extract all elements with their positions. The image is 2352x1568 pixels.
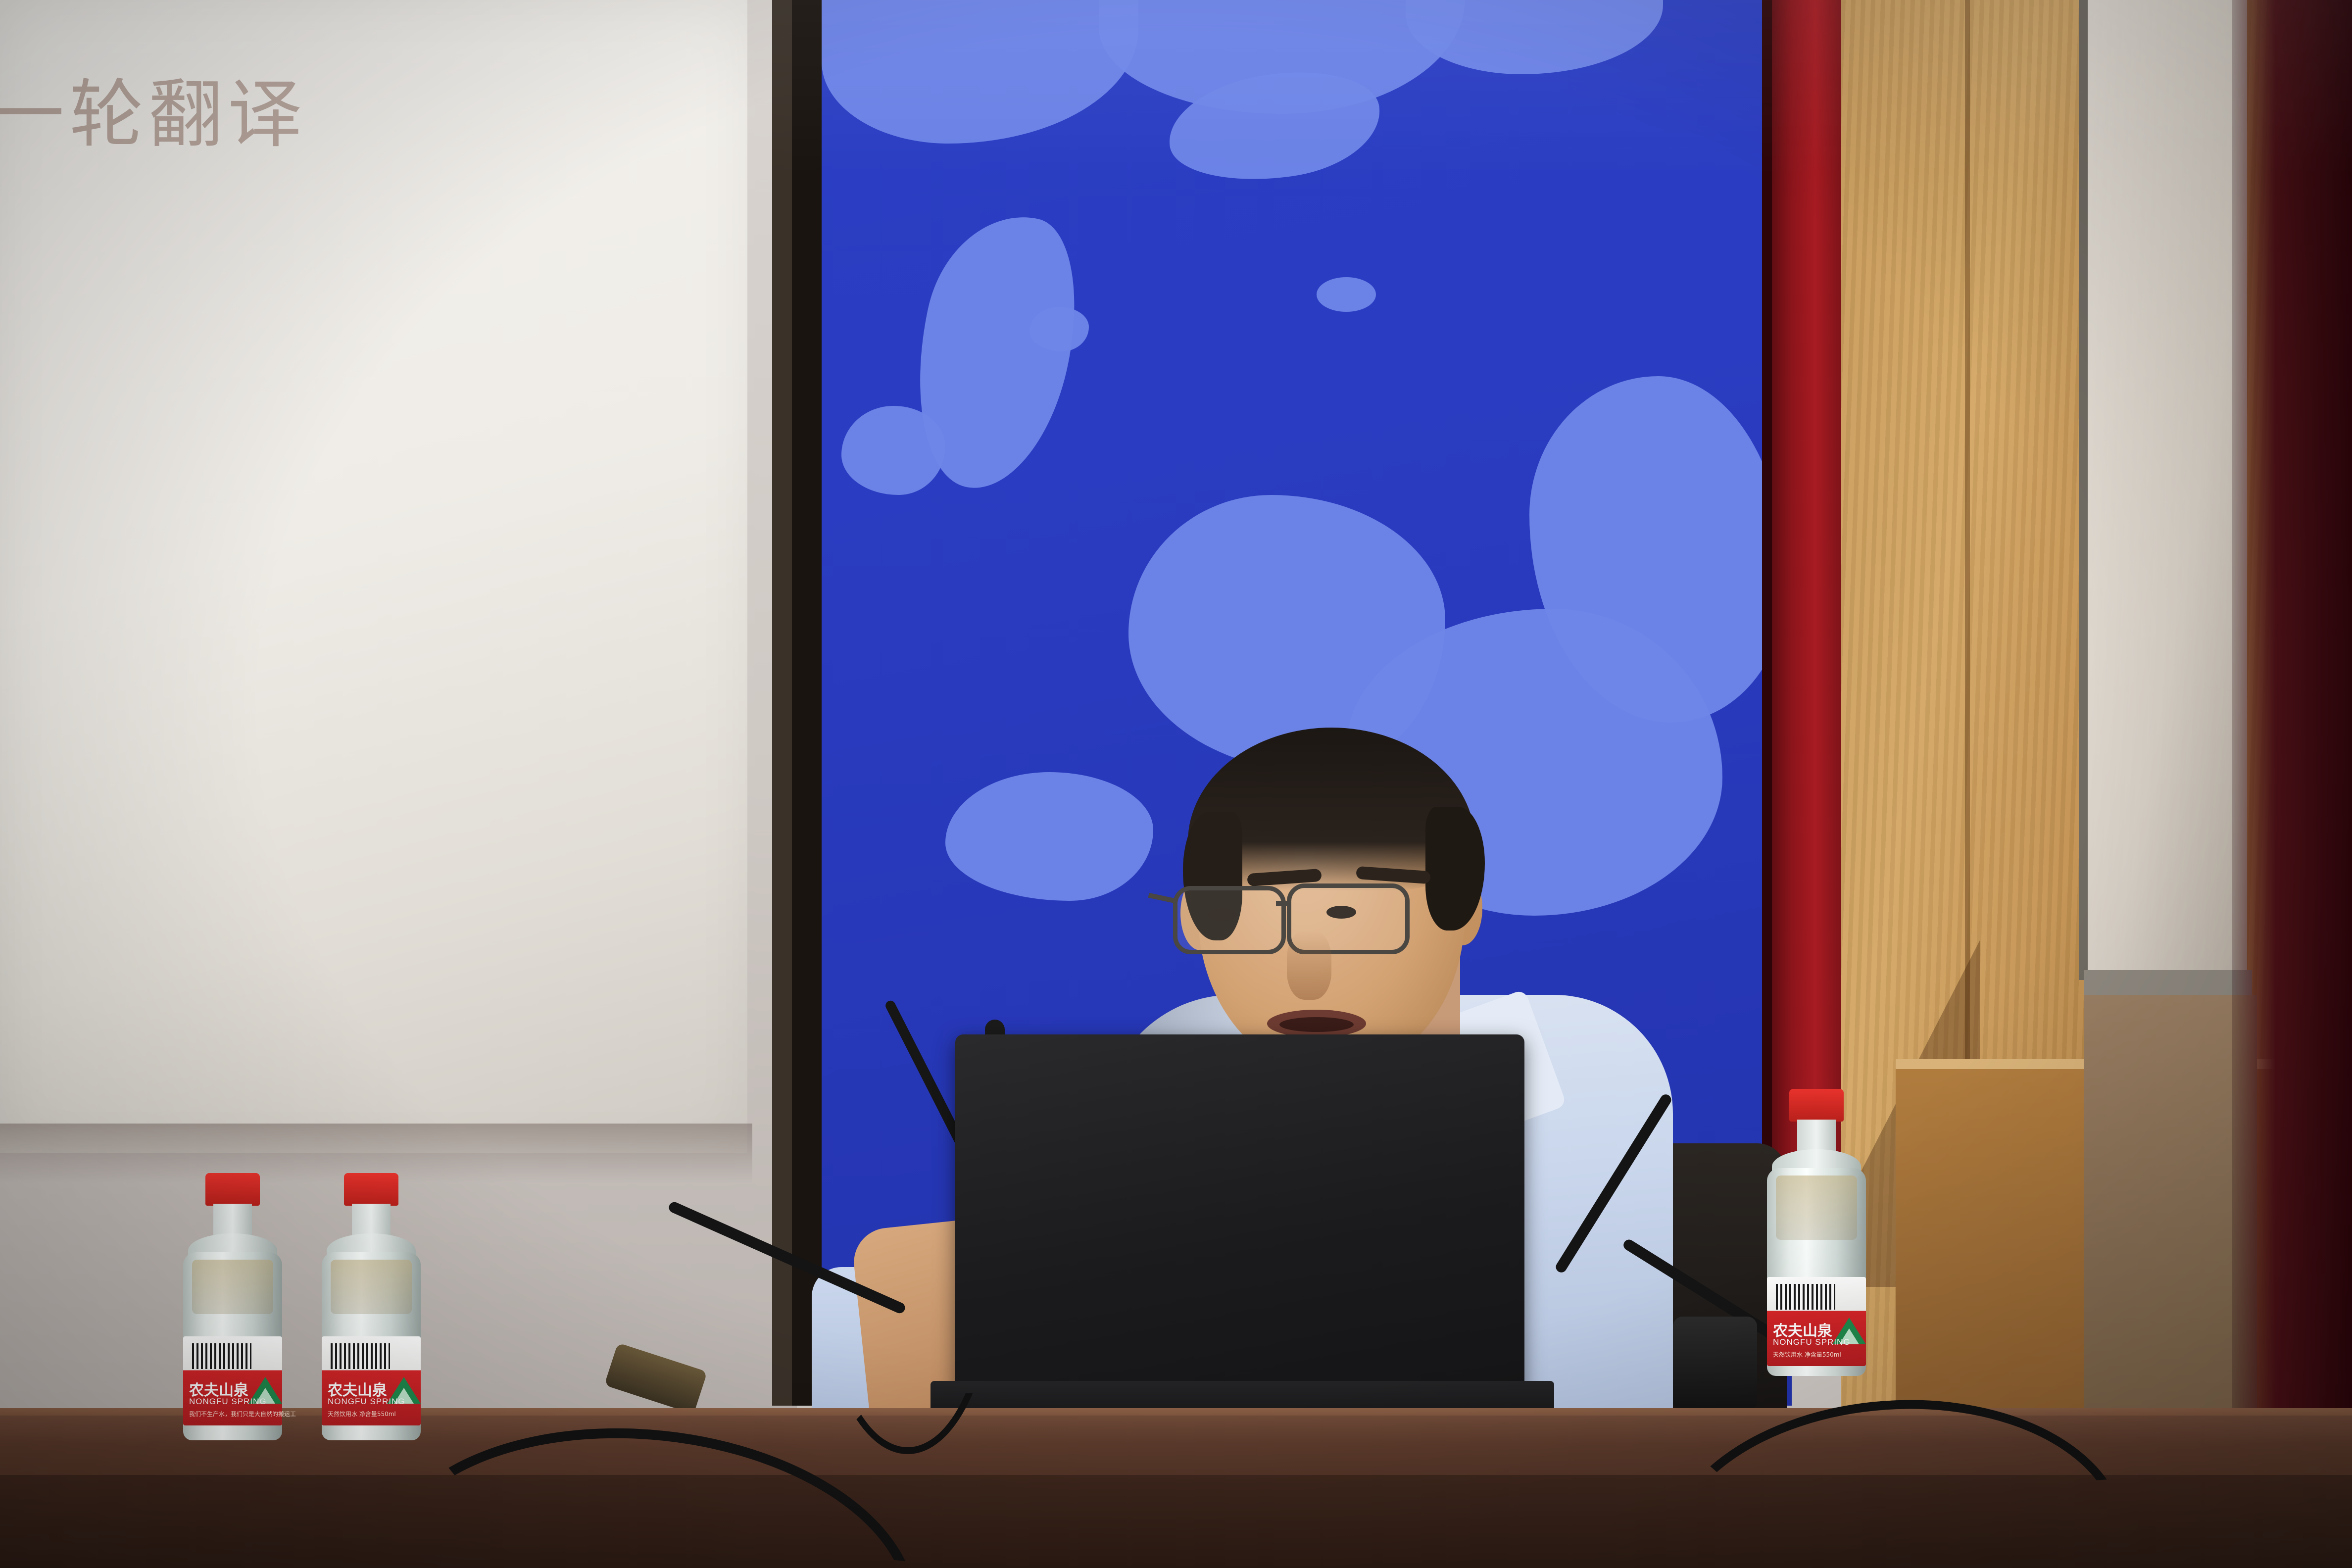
bottle-tagline: 天然饮用水 净含量550ml	[1773, 1350, 1841, 1359]
right-wall-panel	[2084, 0, 2247, 980]
photo-scene: 一轮翻译	[0, 0, 2352, 1568]
bottle-cap	[205, 1173, 260, 1206]
mouth-interior	[1279, 1017, 1354, 1032]
cloud-shape	[1406, 0, 1663, 74]
projection-screen: 一轮翻译	[0, 0, 747, 1153]
eyeglasses-bridge	[1276, 901, 1290, 906]
cloud-shape	[1029, 307, 1089, 351]
bottle-brand-en: NONGFU SPRING	[328, 1397, 405, 1407]
cloud-shape	[1317, 277, 1376, 312]
bottle-barcode	[331, 1343, 390, 1369]
bottle-label: 农夫山泉 NONGFU SPRING 我们不生产水，我们只是大自然的搬运工	[183, 1336, 282, 1425]
bottle-label: 农夫山泉 NONGFU SPRING 天然饮用水 净含量550ml	[1767, 1277, 1866, 1366]
eyeglasses-lens-left	[1173, 886, 1286, 954]
microphone-base-right	[1673, 1317, 1757, 1411]
cloud-shape	[841, 406, 945, 495]
bottle-water	[1776, 1176, 1857, 1240]
bottle-cap	[1789, 1089, 1844, 1122]
bottle-water	[192, 1260, 273, 1314]
right-wall-edge	[2079, 0, 2088, 980]
laptop-lid: ThinkPad lenovo	[955, 1034, 1524, 1401]
cloud-shape	[945, 772, 1153, 901]
projection-screen-text: 一轮翻译	[0, 54, 465, 163]
bottle-label: 农夫山泉 NONGFU SPRING 天然饮用水 净含量550ml	[322, 1336, 421, 1425]
bottle-brand-en: NONGFU SPRING	[1773, 1337, 1851, 1347]
right-dark-curtain	[2232, 0, 2352, 1435]
bottle-barcode	[192, 1343, 251, 1369]
bottle-tagline: 天然饮用水 净含量550ml	[328, 1410, 396, 1418]
nose	[1287, 931, 1331, 1000]
bottle-water	[331, 1260, 412, 1314]
cloud-shape	[822, 0, 1138, 144]
bottle-barcode	[1776, 1284, 1835, 1310]
bottle-tagline: 我们不生产水，我们只是大自然的搬运工	[189, 1410, 296, 1418]
bottle-cap	[344, 1173, 398, 1206]
right-wall-lower	[2084, 995, 2257, 1440]
wall-seam	[792, 0, 822, 1406]
bottle-brand-en: NONGFU SPRING	[189, 1397, 267, 1407]
